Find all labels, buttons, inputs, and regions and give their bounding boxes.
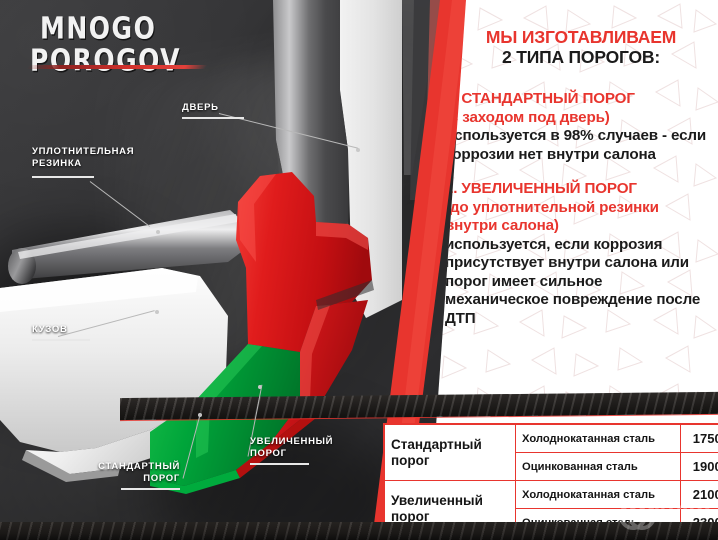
callout-seal-rule (32, 176, 94, 178)
price-value: 2100р. (681, 481, 718, 509)
price-material: Оцинкованная сталь (516, 453, 681, 481)
headline: МЫ ИЗГОТАВЛИВАЕМ 2 ТИПА ПОРОГОВ: (428, 27, 718, 68)
info-panel-content: МЫ ИЗГОТАВЛИВАЕМ 2 ТИПА ПОРОГОВ: 1. СТАН… (428, 0, 718, 328)
body-leader-dot (155, 310, 159, 314)
sill-type-block-extended: 2. УВЕЛИЧЕННЫЙ ПОРОГ (до уплотнительной … (445, 180, 710, 328)
headline-line-2: 2 ТИПА ПОРОГОВ: (444, 47, 718, 68)
sill-type-block-standard: 1. СТАНДАРТНЫЙ ПОРОГ (с заходом под двер… (445, 90, 710, 164)
logo-swoosh (27, 65, 207, 69)
standard-type-subtitle: (с заходом под дверь) (445, 109, 710, 128)
price-category-standard: Стандартный порог (384, 424, 516, 481)
callout-standard-rule (121, 488, 180, 490)
table-row: Увеличенный порог Холоднокатанная сталь … (384, 481, 718, 509)
callout-body-rule (32, 339, 90, 341)
brand-logo[interactable]: MNOGO POROGOV (30, 13, 205, 71)
price-material: Холоднокатанная сталь (516, 424, 681, 453)
seal-leader-dot (156, 230, 160, 234)
table-row: Стандартный порог Холоднокатанная сталь … (384, 424, 718, 453)
headline-line-1: МЫ ИЗГОТАВЛИВАЕМ (444, 27, 718, 47)
logo-line-2: POROGOV (30, 45, 205, 76)
extended-type-title: 2. УВЕЛИЧЕННЫЙ ПОРОГ (445, 180, 710, 199)
callout-door: ДВЕРЬ (182, 102, 219, 114)
standard-type-body: используется в 98% случаев - если корроз… (445, 127, 710, 164)
extended-type-body: используется, если коррозия присутствует… (445, 236, 710, 329)
extended-type-subtitle: (до уплотнительной резинки внутри салона… (445, 199, 710, 236)
door-leader-dot (356, 148, 360, 152)
bottom-decorative-strip (0, 522, 718, 540)
callout-standard-sill: СТАНДАРТНЫЙ ПОРОГ (88, 461, 180, 485)
callout-body: КУЗОВ (32, 324, 68, 336)
advertisement-image: ДВЕРЬ УПЛОТНИТЕЛЬНАЯ РЕЗИНКА КУЗОВ СТАНД… (0, 0, 718, 540)
price-value: 1750р. (681, 424, 718, 453)
callout-seal-rubber: УПЛОТНИТЕЛЬНАЯ РЕЗИНКА (32, 146, 134, 170)
callout-extended-sill: УВЕЛИЧЕННЫЙ ПОРОГ (250, 436, 345, 460)
callout-door-rule (182, 117, 244, 119)
price-material: Холоднокатанная сталь (516, 481, 681, 509)
price-value: 1900р. (681, 453, 718, 481)
standard-type-title: 1. СТАНДАРТНЫЙ ПОРОГ (445, 90, 710, 109)
logo-line-1: MNOGO (40, 13, 205, 44)
callout-extended-rule (250, 463, 309, 465)
price-table: Стандартный порог Холоднокатанная сталь … (383, 423, 718, 538)
